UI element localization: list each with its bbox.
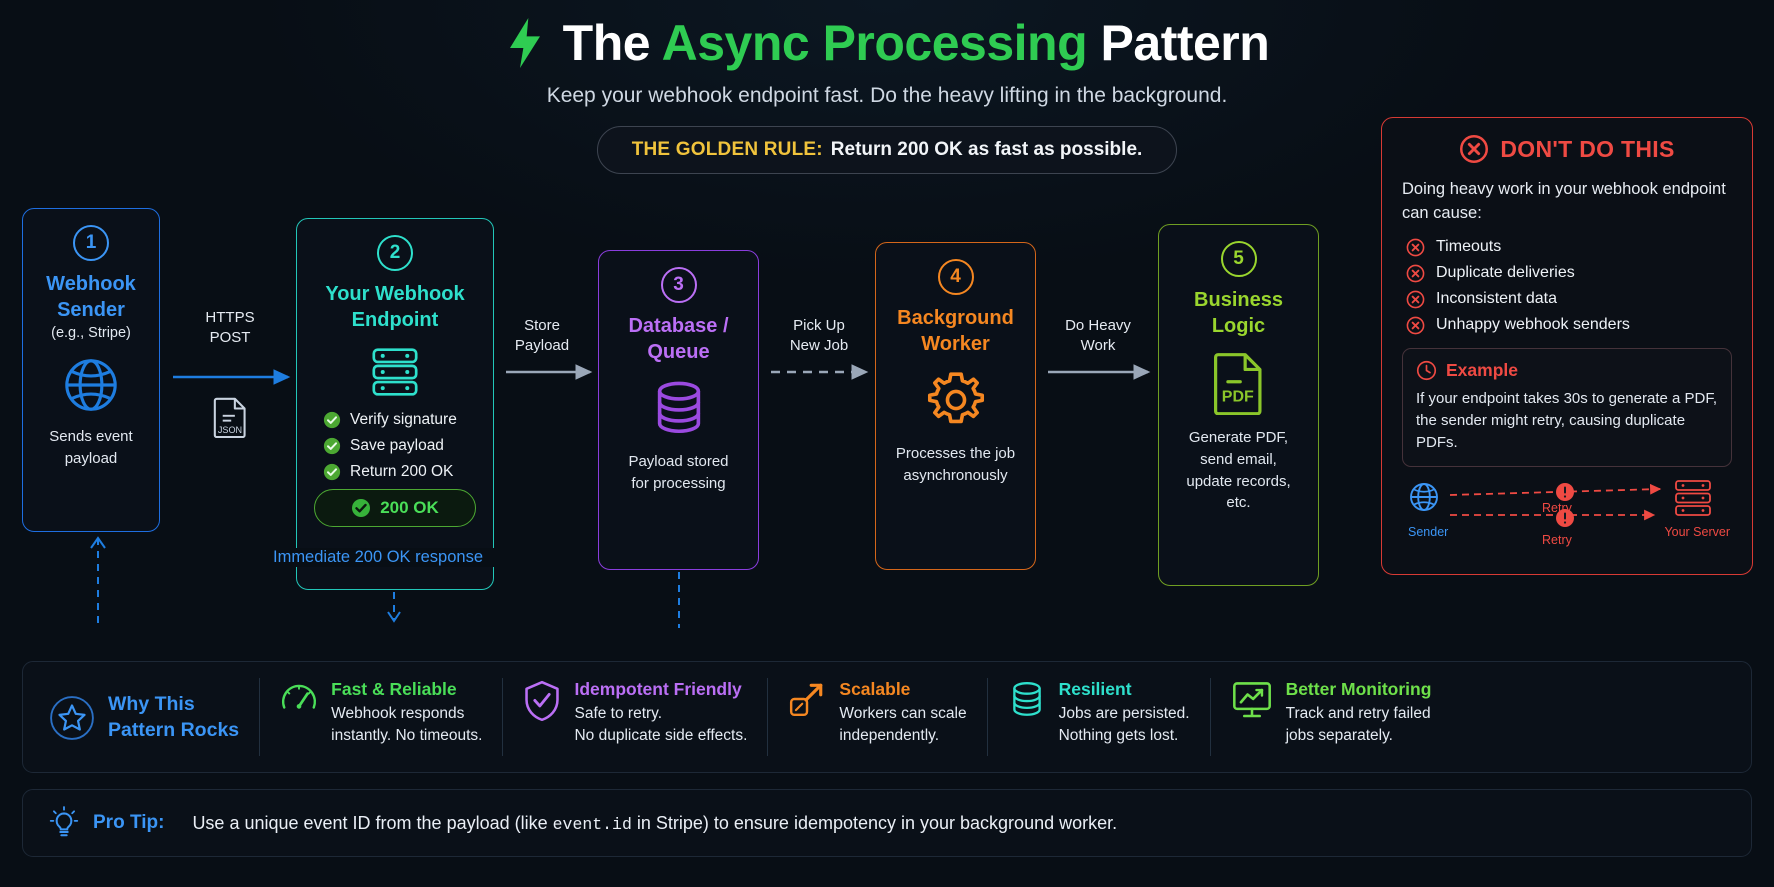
benefits-heading-label: Why ThisPattern Rocks [108, 691, 239, 744]
benefit-title: Better Monitoring [1286, 678, 1432, 702]
dont-list-item: Unhappy webhook senders [1402, 316, 1732, 335]
golden-rule-text: Return 200 OK as fast as possible. [831, 139, 1143, 161]
benefit-text: Scalable Workers can scaleindependently. [839, 678, 966, 747]
benefit-idempotent-friendly: Idempotent Friendly Safe to retry.No dup… [503, 678, 768, 756]
dont-panel-title: DON'T DO THIS [1500, 136, 1674, 163]
database-icon [1008, 680, 1046, 720]
flow-card-your-webhook-endpoint[interactable]: 2 Your WebhookEndpoint [296, 218, 494, 590]
svg-text:PDF: PDF [1221, 388, 1253, 405]
dont-do-this-panel: DON'T DO THIS Doing heavy work in your w… [1381, 117, 1753, 575]
dont-list-label: Timeouts [1436, 238, 1501, 256]
dont-list-label: Unhappy webhook senders [1436, 316, 1630, 334]
server-rack-icon [366, 345, 424, 399]
x-circle-icon [1406, 264, 1425, 283]
json-file-icon: JSON [213, 396, 247, 438]
globe-icon [1411, 484, 1437, 510]
benefit-fast-reliable: Fast & Reliable Webhook respondsinstantl… [260, 678, 503, 756]
x-circle-icon [1406, 290, 1425, 309]
monitor-chart-icon [1231, 680, 1273, 720]
dont-panel-lead: Doing heavy work in your webhook endpoin… [1402, 178, 1732, 226]
page-subtitle: Keep your webhook endpoint fast. Do the … [0, 84, 1774, 108]
status-badge-200-ok: 200 OK [314, 489, 476, 527]
card-desc: Sends eventpayload [23, 426, 159, 470]
retry-sender-label: Sender [1408, 525, 1448, 539]
page-title: The Async Processing Pattern [563, 14, 1270, 72]
benefit-resilient: Resilient Jobs are persisted.Nothing get… [988, 678, 1211, 756]
scale-arrow-icon [788, 680, 826, 718]
pro-tip-body: Use a unique event ID from the payload (… [192, 813, 1117, 834]
endpoint-checklist: Verify signature Save payload Return 200… [297, 411, 493, 481]
card-title: Database /Queue [599, 313, 758, 365]
gear-icon [925, 369, 987, 431]
retry-diagram: Retry Retry Sender Your Server [1402, 475, 1732, 547]
dont-list-label: Inconsistent data [1436, 290, 1557, 308]
golden-rule-banner: THE GOLDEN RULE: Return 200 OK as fast a… [597, 126, 1178, 174]
checklist-item: Save payload [323, 437, 493, 455]
example-body: If your endpoint takes 30s to generate a… [1416, 388, 1718, 454]
card-number: 2 [377, 235, 413, 271]
benefit-better-monitoring: Better Monitoring Track and retry failed… [1211, 678, 1452, 756]
benefits-bar: Why ThisPattern Rocks Fast & Reliable We… [22, 661, 1752, 773]
benefit-text: Fast & Reliable Webhook respondsinstantl… [331, 678, 482, 747]
flow-card-database-queue[interactable]: 3 Database /Queue Payload storedfor proc… [598, 250, 759, 570]
pro-tip-bar: Pro Tip: Use a unique event ID from the … [22, 789, 1752, 857]
pro-tip-body-post: in Stripe) to ensure idempotency in your… [632, 813, 1117, 833]
flow-card-background-worker[interactable]: 4 BackgroundWorker Processes the jobasyn… [875, 242, 1036, 570]
title-pre: The [563, 15, 662, 71]
connector-label: Pick UpNew Job [759, 316, 879, 357]
card-desc: Processes the jobasynchronously [876, 443, 1035, 487]
card-desc: Payload storedfor processing [599, 451, 758, 495]
benefit-text: Resilient Jobs are persisted.Nothing get… [1059, 678, 1190, 747]
example-header: Example [1416, 360, 1718, 381]
return-path-label: Immediate 200 OK response [258, 548, 498, 567]
card-title: BusinessLogic [1159, 287, 1318, 339]
example-box: Example If your endpoint takes 30s to ge… [1402, 348, 1732, 467]
check-circle-icon [323, 411, 341, 429]
dont-list-item: Inconsistent data [1402, 290, 1732, 309]
check-circle-icon [323, 437, 341, 455]
dont-list-item: Timeouts [1402, 238, 1732, 257]
pro-tip-body-pre: Use a unique event ID from the payload (… [192, 813, 552, 833]
header: The Async Processing Pattern Keep your w… [0, 0, 1774, 108]
benefit-body: Jobs are persisted.Nothing gets lost. [1059, 703, 1190, 747]
benefit-title: Fast & Reliable [331, 678, 482, 702]
card-desc: Generate PDF,send email,update records,e… [1159, 427, 1318, 514]
connector-label: Do HeavyWork [1038, 316, 1158, 357]
card-number: 4 [938, 259, 974, 295]
benefit-body: Webhook respondsinstantly. No timeouts. [331, 703, 482, 747]
benefits-heading: Why ThisPattern Rocks [23, 678, 260, 756]
retry-server-label: Your Server [1664, 525, 1730, 539]
connector-label: StorePayload [482, 316, 602, 357]
benefit-text: Idempotent Friendly Safe to retry.No dup… [574, 678, 747, 747]
card-number: 5 [1221, 241, 1257, 277]
x-circle-icon [1459, 134, 1489, 164]
svg-text:JSON: JSON [218, 425, 242, 435]
shield-check-icon [523, 680, 561, 722]
card-title: BackgroundWorker [876, 305, 1035, 357]
checklist-item: Return 200 OK [323, 463, 493, 481]
benefit-body: Track and retry failedjobs separately. [1286, 703, 1432, 747]
gauge-icon [280, 680, 318, 718]
benefit-body: Workers can scaleindependently. [839, 703, 966, 747]
checklist-label: Verify signature [350, 411, 457, 429]
dont-list-label: Duplicate deliveries [1436, 264, 1575, 282]
dont-panel-header: DON'T DO THIS [1402, 134, 1732, 164]
flow-card-business-logic[interactable]: 5 BusinessLogic PDF Generate PDF,send em… [1158, 224, 1319, 586]
clock-icon [1416, 360, 1437, 381]
card-subtitle: (e.g., Stripe) [23, 323, 159, 344]
server-rack-icon [1676, 481, 1710, 515]
golden-rule-label: THE GOLDEN RULE: [632, 139, 823, 161]
status-badge-label: 200 OK [380, 498, 439, 518]
flow-card-webhook-sender[interactable]: 1 WebhookSender (e.g., Stripe) Sends eve… [22, 208, 160, 532]
benefit-title: Resilient [1059, 678, 1190, 702]
flow-diagram: 1 WebhookSender (e.g., Stripe) Sends eve… [0, 208, 1380, 628]
title-post: Pattern [1087, 15, 1269, 71]
title-accent: Async Processing [662, 15, 1088, 71]
pro-tip-label: Pro Tip: [93, 812, 164, 834]
card-title: Your WebhookEndpoint [297, 281, 493, 333]
lightning-bolt-icon [505, 15, 545, 71]
pro-tip-code: event.id [553, 815, 632, 834]
connector-label: HTTPSPOST [170, 308, 290, 349]
benefits-heading-text: Why ThisPattern Rocks [108, 691, 239, 744]
database-icon [648, 377, 710, 439]
dont-list-item: Duplicate deliveries [1402, 264, 1732, 283]
example-title: Example [1446, 360, 1518, 381]
infographic-page: The Async Processing Pattern Keep your w… [0, 0, 1774, 887]
checklist-item: Verify signature [323, 411, 493, 429]
x-circle-icon [1406, 316, 1425, 335]
benefit-scalable: Scalable Workers can scaleindependently. [768, 678, 987, 756]
benefit-title: Idempotent Friendly [574, 678, 747, 702]
lightbulb-icon [49, 806, 79, 840]
globe-icon [62, 356, 120, 414]
benefit-body: Safe to retry.No duplicate side effects. [574, 703, 747, 747]
checklist-label: Return 200 OK [350, 463, 453, 481]
card-number: 1 [73, 225, 109, 261]
title-row: The Async Processing Pattern [0, 14, 1774, 72]
checklist-label: Save payload [350, 437, 444, 455]
benefit-text: Better Monitoring Track and retry failed… [1286, 678, 1432, 747]
card-title: WebhookSender [23, 271, 159, 323]
x-circle-icon [1406, 238, 1425, 257]
check-circle-icon [351, 498, 371, 518]
retry-label: Retry [1542, 501, 1572, 515]
pdf-file-icon: PDF [1211, 351, 1267, 415]
star-circle-icon [49, 695, 95, 741]
retry-label: Retry [1542, 533, 1572, 547]
check-circle-icon [323, 463, 341, 481]
card-number: 3 [661, 267, 697, 303]
benefit-title: Scalable [839, 678, 966, 702]
